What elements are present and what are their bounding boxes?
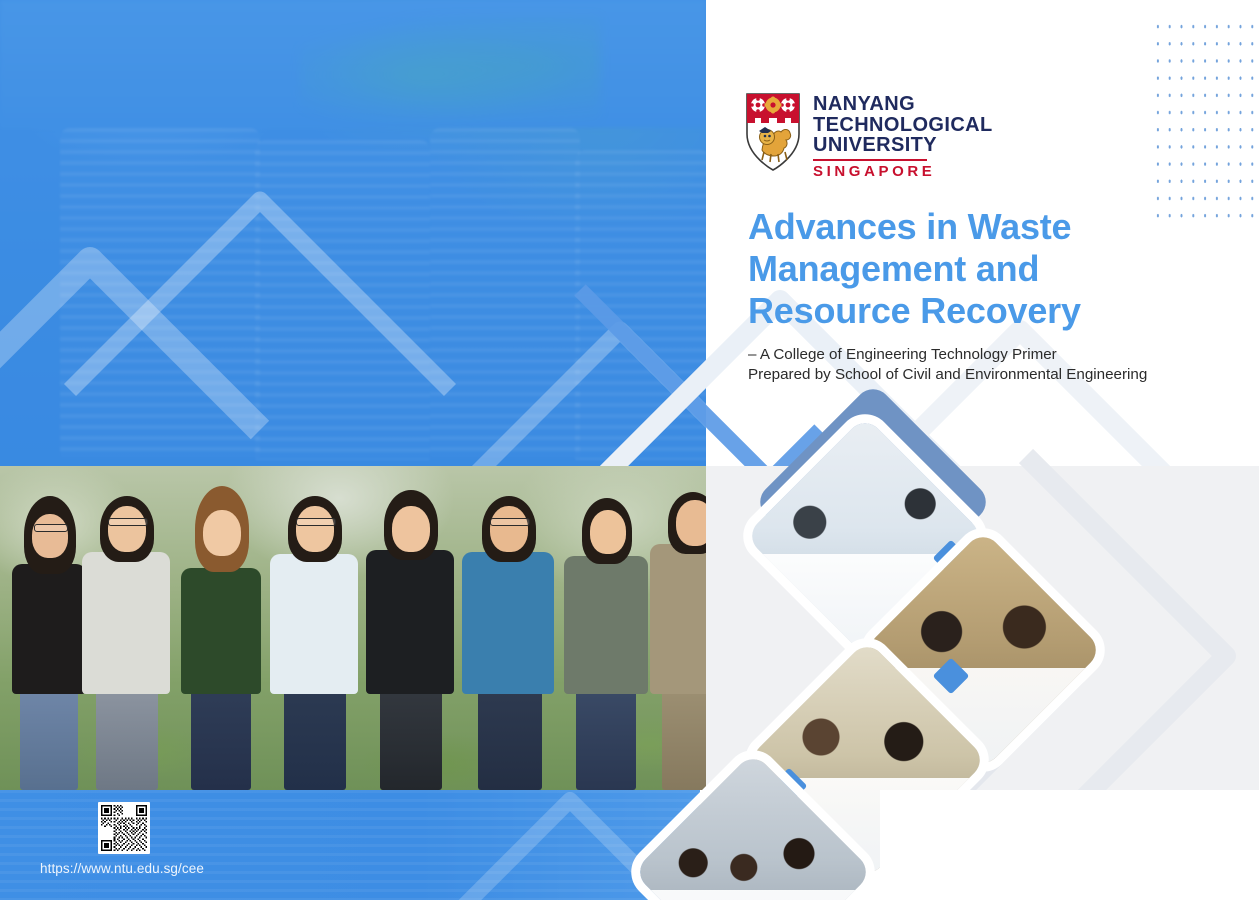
blue-overlay <box>0 0 706 466</box>
wordmark-rule <box>813 159 927 161</box>
hero-image-panel <box>0 0 706 466</box>
page-title: Advances in Waste Management and Resourc… <box>748 206 1178 332</box>
wordmark-line-3: UNIVERSITY <box>813 135 993 156</box>
subtitle-line-1: – A College of Engineering Technology Pr… <box>748 345 1238 365</box>
website-url[interactable]: https://www.ntu.edu.sg/cee <box>40 861 204 876</box>
wordmark-country: SINGAPORE <box>813 163 993 180</box>
wordmark-line-1: NANYANG <box>813 94 993 115</box>
qr-code-icon <box>101 805 147 851</box>
ntu-wordmark: NANYANG TECHNOLOGICAL UNIVERSITY SINGAPO… <box>813 94 993 180</box>
white-corner-fill <box>880 790 1259 900</box>
subtitle-line-2: Prepared by School of Civil and Environm… <box>748 365 1238 385</box>
title-line-2: Management and <box>748 248 1178 290</box>
qr-code[interactable] <box>98 802 150 854</box>
page-subtitle: – A College of Engineering Technology Pr… <box>748 345 1238 385</box>
ntu-logo[interactable]: NANYANG TECHNOLOGICAL UNIVERSITY SINGAPO… <box>745 92 985 182</box>
dot-grid-decoration <box>1150 16 1259 218</box>
student-group-photo <box>0 466 706 790</box>
wordmark-line-2: TECHNOLOGICAL <box>813 115 993 136</box>
title-line-1: Advances in Waste <box>748 206 1178 248</box>
document-cover: https://www.ntu.edu.sg/cee <box>0 0 1259 900</box>
ntu-crest-icon <box>745 92 801 172</box>
title-line-3: Resource Recovery <box>748 290 1178 332</box>
